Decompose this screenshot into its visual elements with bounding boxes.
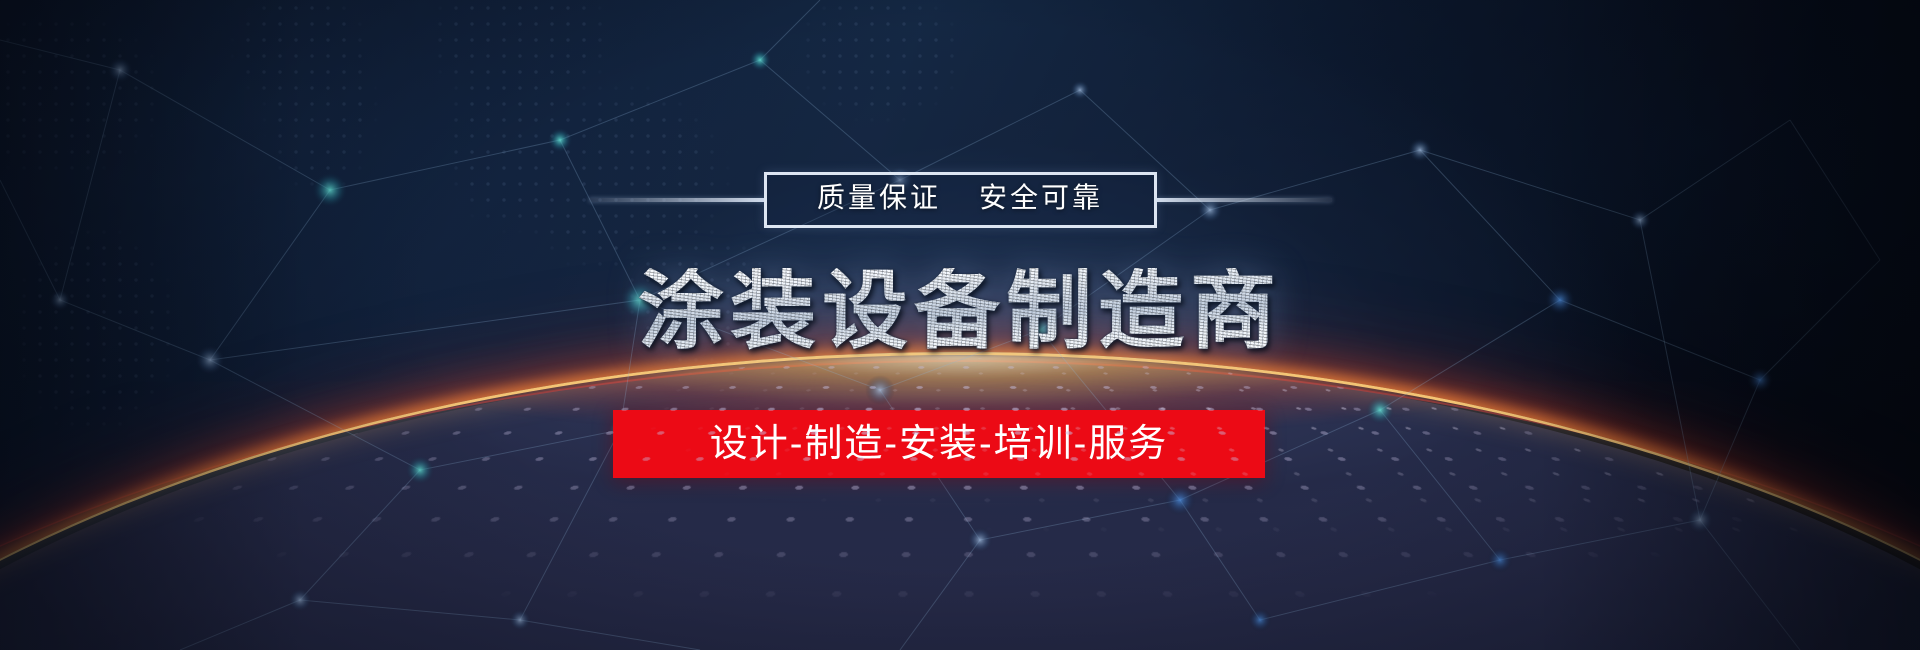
tagline-badge: 质量保证 安全可靠 bbox=[764, 172, 1157, 228]
rule-right bbox=[1157, 198, 1332, 202]
tagline-badge-group: 质量保证 安全可靠 bbox=[0, 172, 1920, 228]
tagline-item-safety: 安全可靠 bbox=[979, 184, 1103, 212]
rule-left bbox=[589, 198, 764, 202]
service-bar: 设计-制造-安装-培训-服务 bbox=[613, 410, 1265, 478]
hero-banner: 质量保证 安全可靠 涂装设备制造商 涂装设备制造商 设计-制造-安装-培训-服务 bbox=[0, 0, 1920, 650]
tagline-item-quality: 质量保证 bbox=[817, 184, 941, 212]
service-bar-label: 设计-制造-安装-培训-服务 bbox=[710, 425, 1169, 463]
page-title: 涂装设备制造商 bbox=[0, 268, 1920, 354]
